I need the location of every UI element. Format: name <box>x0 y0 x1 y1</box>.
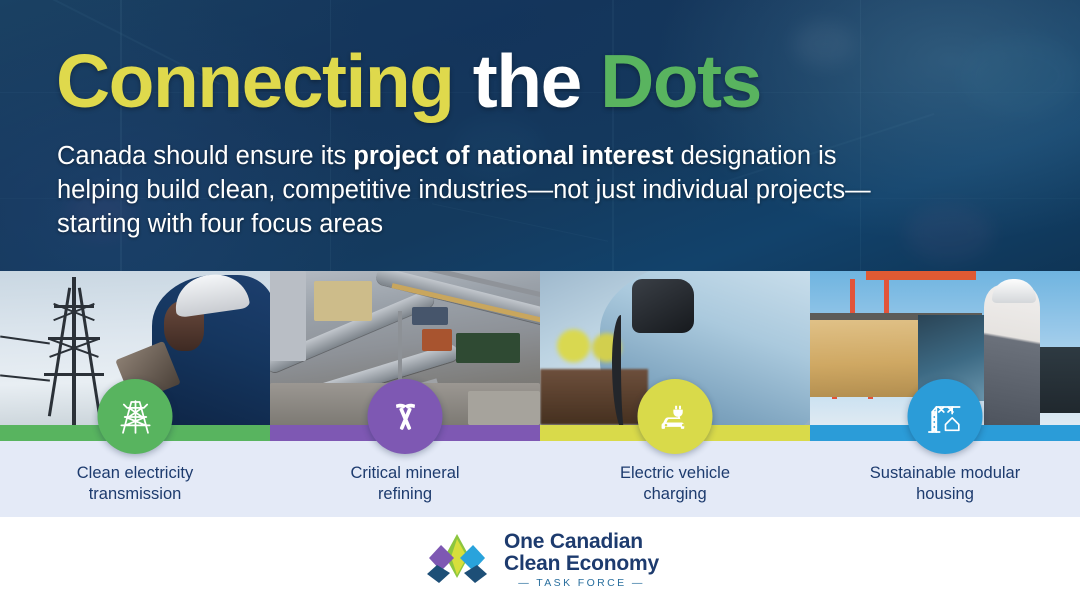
subtitle-text-bold: project of national interest <box>353 142 673 170</box>
logo-line-2: Clean Economy <box>504 553 659 575</box>
focus-area-clean-electricity-transmission[interactable]: Clean electricity transmission <box>0 271 270 517</box>
focus-area-electric-vehicle-charging[interactable]: Electric vehicle charging <box>540 271 810 517</box>
focus-area-caption: Sustainable modular housing <box>810 463 1080 505</box>
page-subtitle: Canada should ensure its project of nati… <box>57 140 887 242</box>
title-part-connecting: Connecting <box>56 39 453 123</box>
focus-area-caption: Clean electricity transmission <box>0 463 270 505</box>
logo-tagline: — TASK FORCE — <box>504 578 659 589</box>
page-title: Connecting the Dots <box>56 44 761 119</box>
charging-cable <box>612 315 634 425</box>
construction-worker <box>984 285 1040 425</box>
icon-badge-modular-housing[interactable] <box>908 379 983 454</box>
worker-hard-hat <box>992 279 1036 303</box>
tower-crane-icon <box>925 397 965 437</box>
icon-badge-clean-electricity[interactable] <box>98 379 173 454</box>
caption-line-2: transmission <box>0 484 270 505</box>
caption-line-2: charging <box>540 484 810 505</box>
logo-line-1: One Canadian <box>504 531 659 553</box>
logo-wordmark: One Canadian Clean Economy — TASK FORCE … <box>504 531 659 588</box>
ev-charging-car-icon <box>655 397 695 437</box>
title-part-the: the <box>453 39 600 123</box>
focus-area-caption: Critical mineral refining <box>270 463 540 505</box>
caption-line-2: refining <box>270 484 540 505</box>
maple-leaf-diamonds-logo <box>421 531 493 589</box>
focus-areas-strip: Clean electricity transmission <box>0 271 1080 517</box>
focus-area-critical-mineral-refining[interactable]: Critical mineral refining <box>270 271 540 517</box>
pylon-silhouette <box>46 277 102 425</box>
header-banner: Connecting the Dots Canada should ensure… <box>0 0 1080 271</box>
infographic-poster: Connecting the Dots Canada should ensure… <box>0 0 1080 608</box>
caption-line-2: housing <box>810 484 1080 505</box>
icon-badge-critical-mineral[interactable] <box>368 379 443 454</box>
crossed-pickaxes-icon <box>385 397 425 437</box>
focus-areas-list: Clean electricity transmission <box>0 271 1080 517</box>
organization-logo[interactable]: One Canadian Clean Economy — TASK FORCE … <box>421 531 659 589</box>
charging-connector <box>632 279 694 333</box>
crane-boom <box>866 271 976 280</box>
icon-badge-ev-charging[interactable] <box>638 379 713 454</box>
subtitle-text-before: Canada should ensure its <box>57 142 353 170</box>
caption-line-1: Sustainable modular <box>810 463 1080 484</box>
caption-line-1: Clean electricity <box>0 463 270 484</box>
focus-area-caption: Electric vehicle charging <box>540 463 810 505</box>
footer: One Canadian Clean Economy — TASK FORCE … <box>0 517 1080 608</box>
focus-area-sustainable-modular-housing[interactable]: Sustainable modular housing <box>810 271 1080 517</box>
transmission-tower-icon <box>115 397 155 437</box>
title-part-dots: Dots <box>600 39 761 123</box>
caption-line-1: Critical mineral <box>270 463 540 484</box>
caption-line-1: Electric vehicle <box>540 463 810 484</box>
